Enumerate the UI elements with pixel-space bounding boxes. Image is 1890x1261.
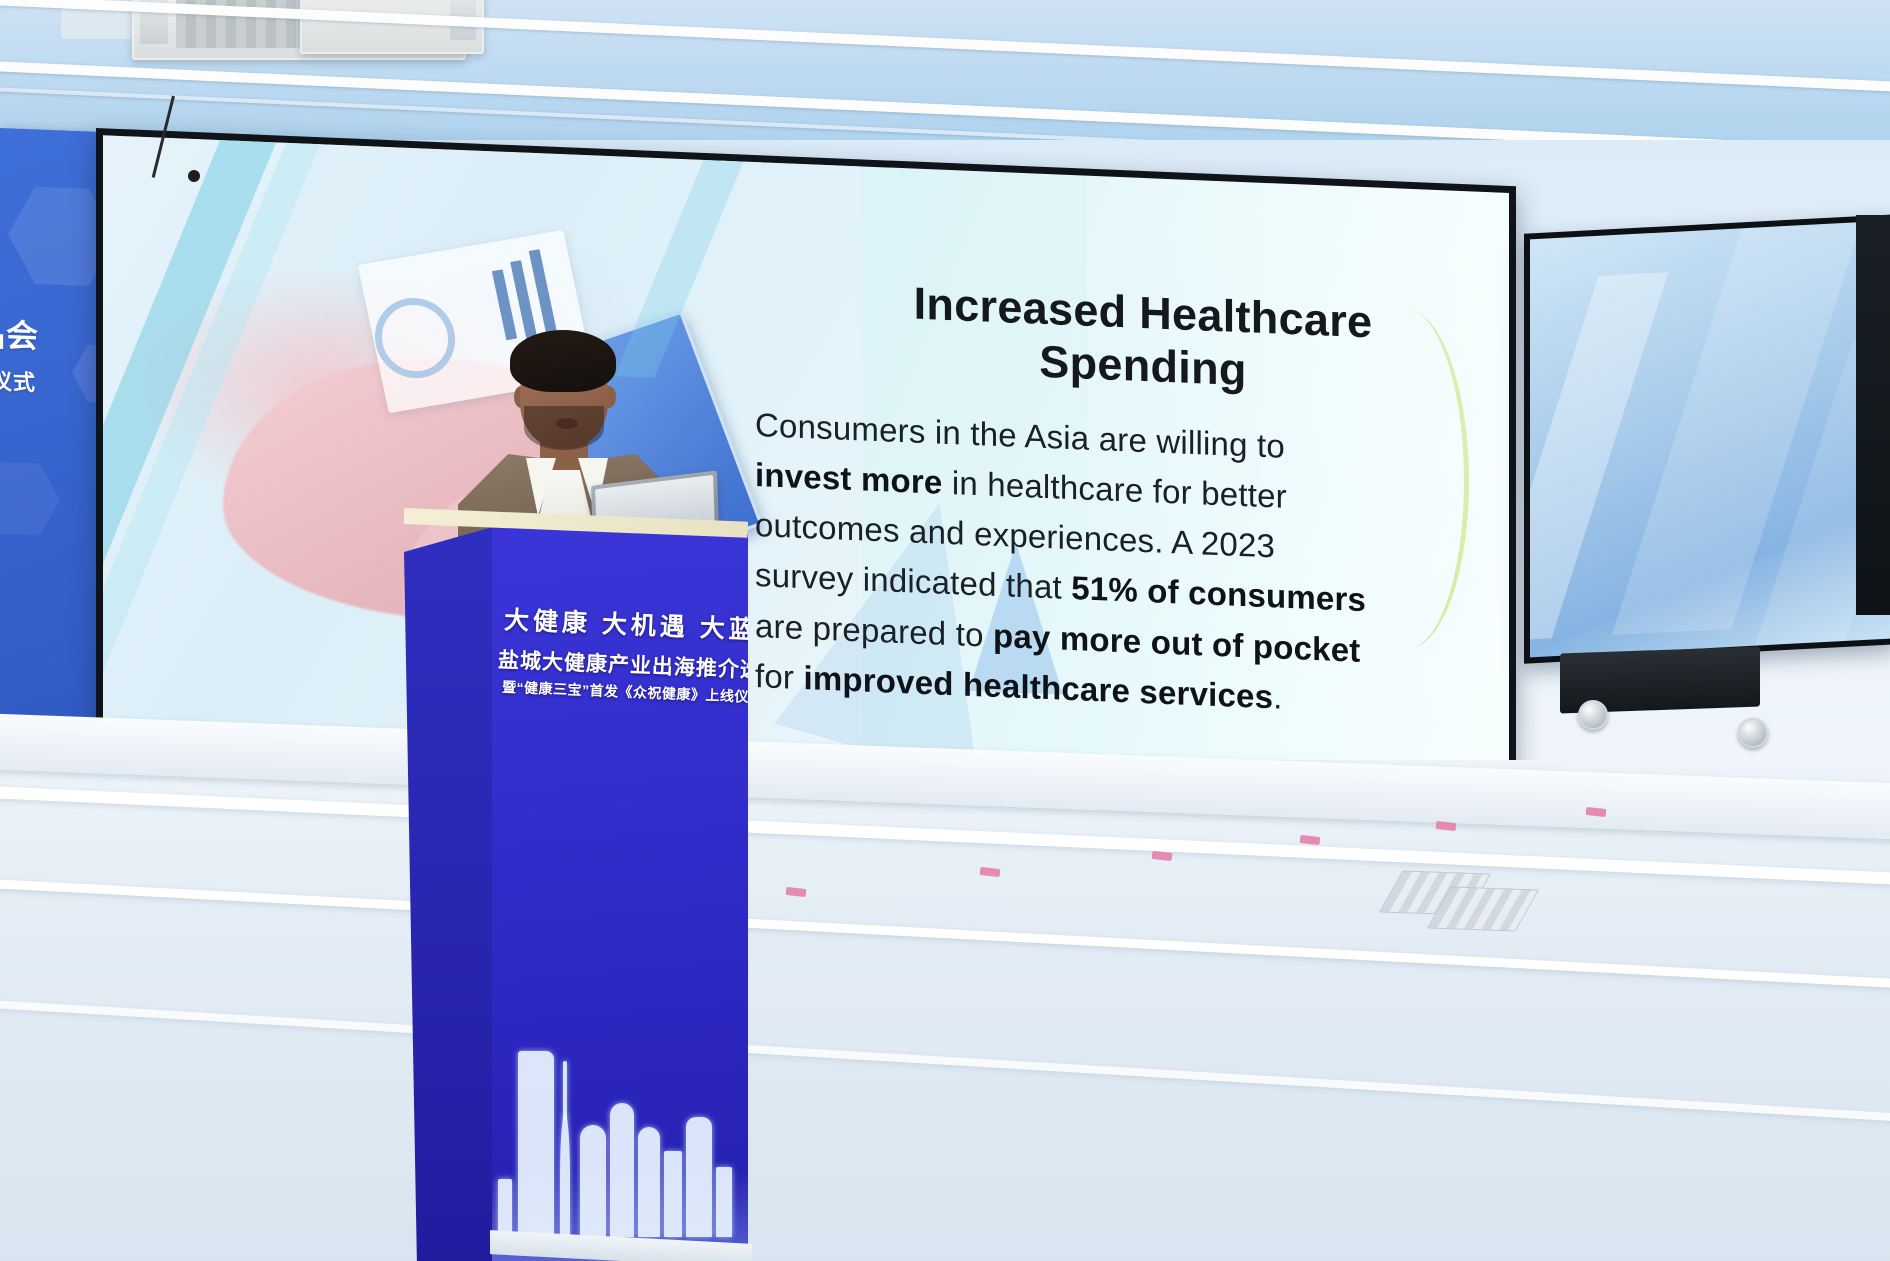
floor-marker	[1300, 835, 1321, 845]
banner-hex-1	[8, 180, 100, 292]
side-screen-caster-1	[1578, 700, 1608, 730]
slide-text-run: for	[755, 657, 803, 696]
skyline-building	[560, 1113, 570, 1237]
slide-text-run: are prepared to	[755, 607, 993, 654]
podium-slogan: 大健康 大机遇 大蓝海	[503, 600, 748, 647]
floor-marker	[980, 867, 1001, 877]
side-screen-content	[1530, 221, 1890, 658]
microphone-head	[188, 170, 200, 182]
slide-text-run: survey indicated that	[755, 557, 1071, 607]
floor	[0, 760, 1890, 1261]
far-right-screen-edge	[1856, 215, 1890, 615]
slide-title: Increased Healthcare Spending	[883, 275, 1403, 403]
floor-line-2	[0, 869, 1890, 1004]
slide-emphasis: 51% of consumers	[1071, 569, 1366, 618]
slide-text-run: .	[1273, 678, 1282, 715]
skyline-building	[498, 1179, 512, 1237]
skyline-building	[638, 1127, 660, 1237]
left-banner-line-2: 选品会	[0, 308, 39, 358]
podium: 大健康 大机遇 大蓝海 盐城大健康产业出海推介选品会 暨“健康三宝”首发《众祝健…	[404, 508, 748, 1261]
slide-emphasis: invest more	[755, 456, 942, 501]
banner-hex-3	[0, 457, 60, 540]
left-banner-line-3: 上线仪式	[0, 362, 36, 398]
slide-emphasis: pay more out of pocket	[993, 616, 1360, 668]
skyline-building	[580, 1125, 606, 1237]
speaker-mouth	[556, 418, 578, 429]
floor-marker	[786, 887, 807, 897]
skyline-building-tall	[518, 1051, 554, 1237]
podium-front-face: 大健康 大机遇 大蓝海 盐城大健康产业出海推介选品会 暨“健康三宝”首发《众祝健…	[492, 508, 748, 1261]
floor-marker	[1152, 851, 1173, 861]
side-led-screen	[1524, 214, 1890, 663]
skyline-building	[664, 1151, 682, 1237]
slide-body-text: Consumers in the Asia are willing toinve…	[755, 400, 1445, 729]
air-conditioner-unit-2	[300, 0, 484, 54]
speaker-hair	[510, 330, 616, 392]
slide-text-run: in healthcare for better	[942, 464, 1286, 515]
presentation-slide: Increased Healthcare Spending Consumers …	[103, 135, 1509, 779]
skyline-building	[686, 1117, 712, 1237]
podium-left-face	[404, 526, 496, 1261]
floor-marker	[1436, 821, 1457, 831]
floor-line-3	[0, 989, 1890, 1139]
skyline-building	[610, 1103, 634, 1237]
screenshot-root: Ζ 选品会 上线仪式	[0, 0, 1890, 1261]
side-screen-caster-2	[1738, 718, 1768, 748]
skyline-tower-spire	[563, 1061, 567, 1121]
ceiling	[0, 0, 1890, 150]
skyline-building	[716, 1167, 732, 1237]
main-led-screen: Increased Healthcare Spending Consumers …	[96, 128, 1516, 786]
